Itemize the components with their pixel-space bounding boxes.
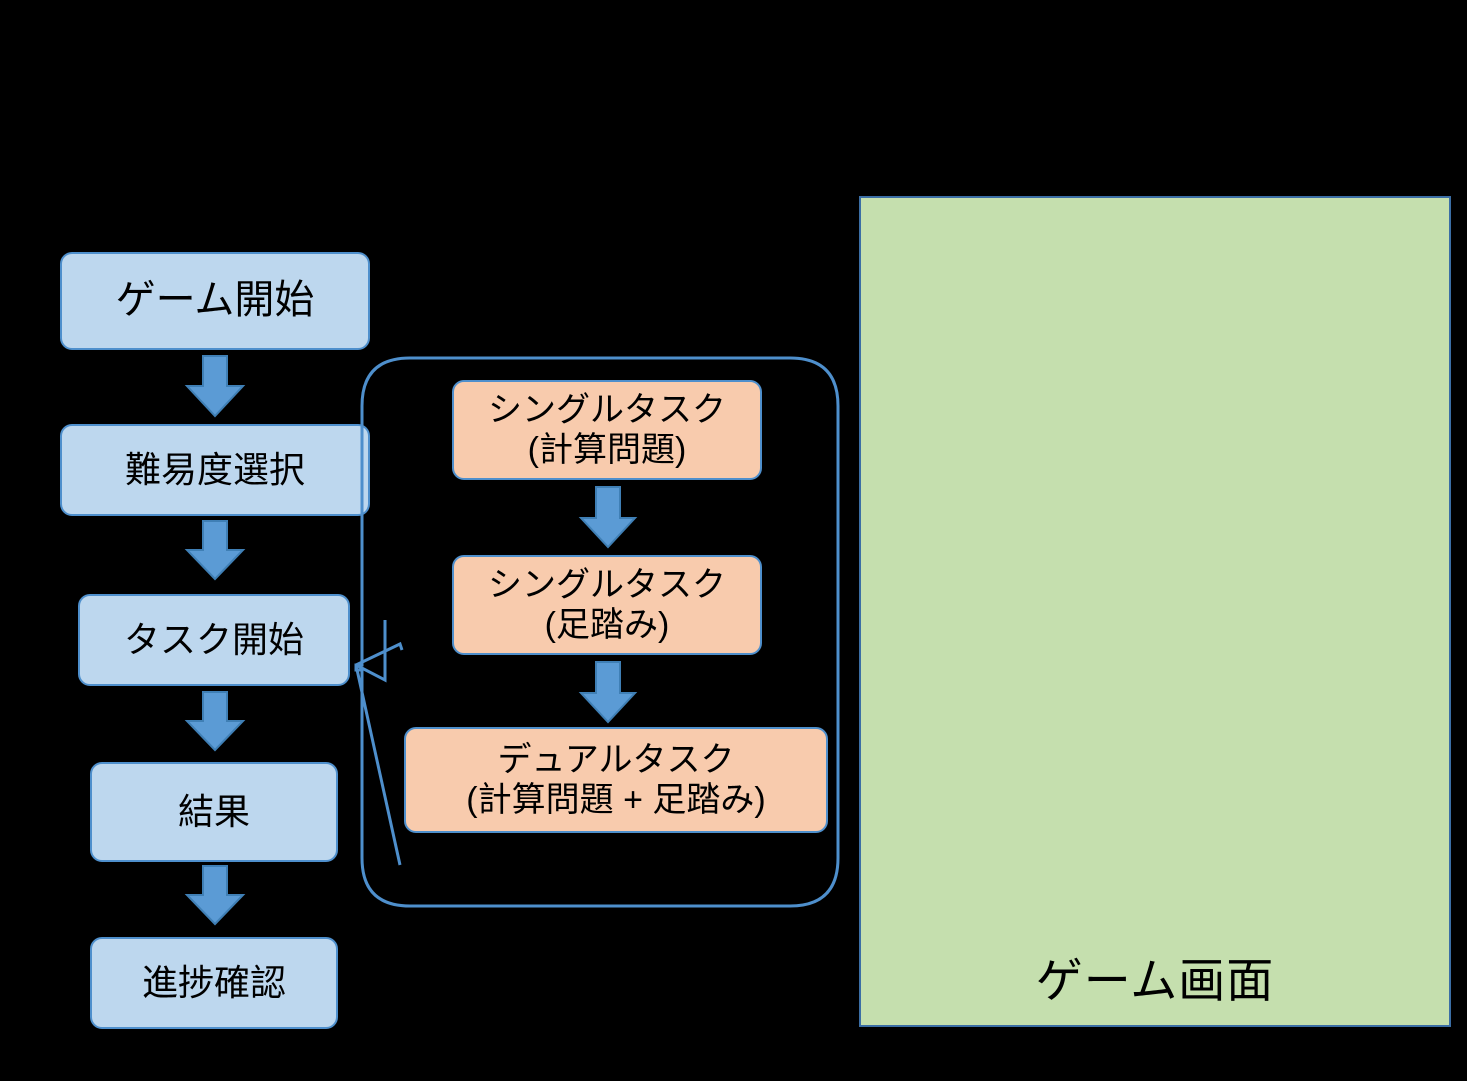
flow-box-game-start[interactable]: ゲーム開始 bbox=[60, 252, 370, 350]
flow-box-label: タスク開始 bbox=[124, 619, 304, 661]
flow-box-label: ゲーム開始 bbox=[116, 277, 315, 324]
game-screen-panel: 東海道五十三次を 走破しよう！ 今回は38歩進みました bbox=[859, 196, 1451, 1027]
task-box-single-calc[interactable]: シングルタスク (計算問題) bbox=[452, 380, 762, 480]
game-panel-caption: ゲーム画面 bbox=[861, 942, 1449, 1011]
arrow-down-task-1 bbox=[578, 487, 638, 549]
flow-box-progress-check[interactable]: 進捗確認 bbox=[90, 937, 338, 1029]
flow-box-difficulty-select[interactable]: 難易度選択 bbox=[60, 424, 370, 516]
task-box-dual[interactable]: デュアルタスク (計算問題 + 足踏み) bbox=[404, 727, 828, 833]
task-box-line2: (計算問題) bbox=[528, 430, 687, 470]
arrow-down-4 bbox=[183, 866, 247, 928]
diagram-canvas: ゲーム開始 難易度選択 タスク開始 結果 進捗確認 bbox=[0, 0, 1467, 1055]
task-box-line2: (足踏み) bbox=[545, 605, 670, 645]
task-box-line1: シングルタスク bbox=[488, 390, 726, 430]
task-box-line1: デュアルタスク bbox=[498, 740, 735, 780]
task-box-single-step[interactable]: シングルタスク (足踏み) bbox=[452, 555, 762, 655]
flow-box-label: 難易度選択 bbox=[125, 449, 305, 491]
arrow-down-task-2 bbox=[578, 662, 638, 724]
flow-box-task-start[interactable]: タスク開始 bbox=[78, 594, 350, 686]
flow-box-label: 結果 bbox=[178, 791, 250, 833]
task-box-line1: シングルタスク bbox=[488, 565, 726, 605]
flow-box-label: 進捗確認 bbox=[142, 962, 286, 1004]
arrow-down-3 bbox=[183, 692, 247, 754]
arrow-down-1 bbox=[183, 356, 247, 420]
flow-box-result[interactable]: 結果 bbox=[90, 762, 338, 862]
arrow-down-2 bbox=[183, 521, 247, 583]
task-box-line2: (計算問題 + 足踏み) bbox=[466, 780, 765, 820]
